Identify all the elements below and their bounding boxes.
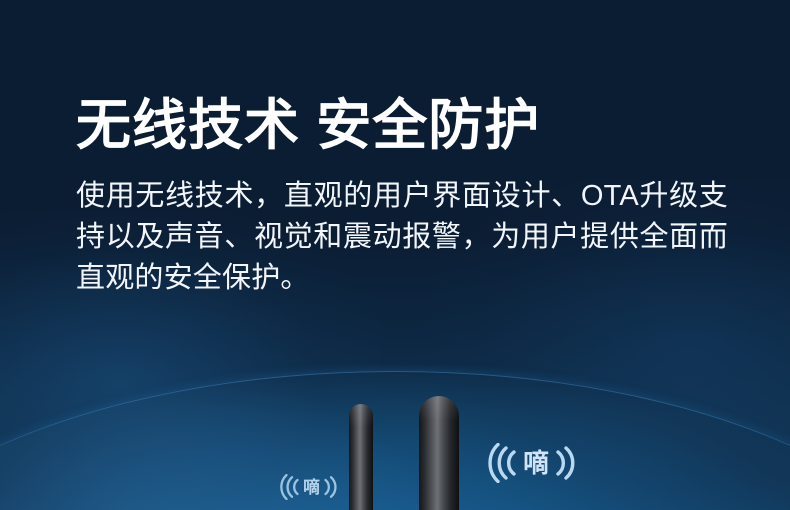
sound-wave-right-icon (323, 474, 339, 500)
page-title: 无线技术 安全防护 (76, 92, 736, 158)
text-block: 无线技术 安全防护 使用无线技术，直观的用户界面设计、OTA升级支持以及声音、视… (76, 92, 736, 299)
alert-label-small: 嘀 (303, 479, 320, 496)
alert-indicator-large: 嘀 (484, 443, 578, 483)
promo-banner: 无线技术 安全防护 使用无线技术，直观的用户界面设计、OTA升级支持以及声音、视… (0, 0, 790, 510)
page-description: 使用无线技术，直观的用户界面设计、OTA升级支持以及声音、视觉和震动报警，为用户… (76, 176, 728, 299)
sound-wave-left-icon (484, 443, 518, 483)
alert-label-large: 嘀 (523, 450, 549, 476)
antenna-large (419, 396, 459, 510)
alert-indicator-small: 嘀 (278, 474, 339, 500)
sound-wave-right-icon (554, 443, 578, 483)
sound-wave-left-icon (278, 474, 300, 500)
antenna-small (349, 404, 373, 510)
